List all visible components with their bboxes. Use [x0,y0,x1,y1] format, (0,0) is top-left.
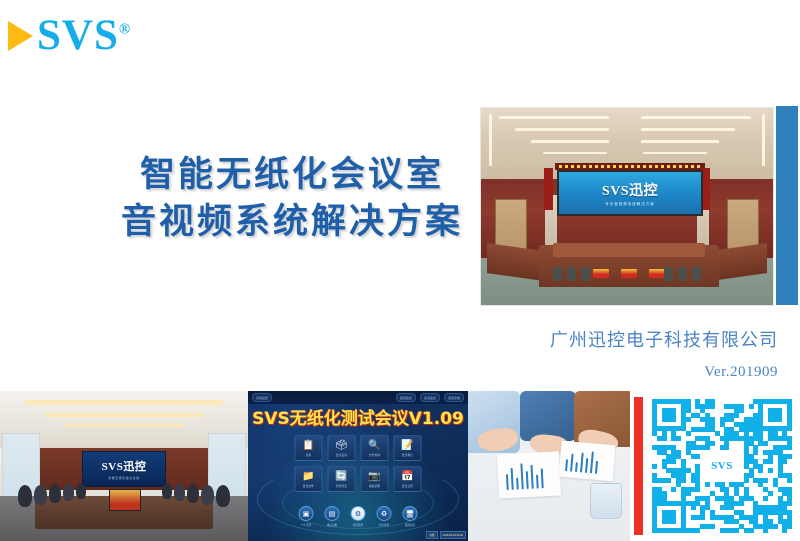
tile2-grid-item-sync[interactable]: 🔄 同步浏览 [328,466,356,492]
tile1-attendee [18,485,32,507]
service-icon: ⚙ [351,506,366,521]
play-triangle-icon [8,21,33,51]
hero-led-screen: SVS迅控 专业音视频系统解决方案 [557,170,703,216]
tile1-monitor [109,489,141,512]
tile2-dock-label: 会务服务 [353,523,363,527]
tile2-topbar-button-exit[interactable]: 退出系统 [444,393,464,402]
whiteboard-icon: ▤ [325,506,340,521]
tile2-statusbar: 在线 2019-09-18 09:30 [426,531,466,539]
page-title-line-2: 音视频系统解决方案 [92,199,492,246]
tile1-attendee [162,483,172,499]
tile1-led-screen: SVS迅控 智能无纸化会议系统 [82,451,166,487]
document-version: Ver.201909 [550,364,778,381]
tile4-accent-bar [634,397,643,535]
hero-chair [692,267,701,281]
tile2-topbar-right-group: 签到会议 表决会议 退出系统 [396,393,464,402]
display-icon: 🖥 [403,506,418,521]
tile2-dock-label: 个人空间 [301,523,311,527]
tile2-grid-item-note[interactable]: 📝 会议笔记 [394,435,422,461]
tile2-grid-label: 会议表决 [336,453,347,457]
registered-trademark-icon: ® [119,22,131,38]
hero-side-banner-left [544,168,553,210]
qr-center-logo: SVS [701,451,743,481]
tile1-screen-subtitle: 智能无纸化会议系统 [108,476,140,480]
tile1-attendee [187,484,199,503]
tile2-grid-item-vote[interactable]: 🗳 会议表决 [328,435,356,461]
hero-conference-room-image: SVS迅控 专业音视频系统解决方案 [480,107,774,306]
vote-icon: 🗳 [335,440,348,451]
tile2-grid-item-search[interactable]: 🔍 文件查询 [361,435,389,461]
hero-desk-flag-3 [649,269,665,278]
tile2-grid-label: 视频录像 [369,484,380,488]
company-info: 广州迅控电子科技有限公司 Ver.201909 [550,328,778,381]
refresh-icon: 🔄 [335,471,347,482]
agenda-icon: 📋 [302,440,314,451]
page-title-line-1: 智能无纸化会议室 [92,152,492,199]
tile1-attendee [76,483,86,499]
tile3-document-left [497,451,561,498]
strip-tile-software-ui: 系统设置 签到会议 表决会议 退出系统 SVS无纸化测试会议V1.09 📋 议程… [248,391,468,541]
qr-center-label: SVS [711,460,733,472]
tile2-grid-label: 会议笔记 [402,453,413,457]
tile2-grid-label: 同步浏览 [336,484,347,488]
tile3-water-glass [590,483,622,519]
brand-logo-text: SVS® [37,14,131,58]
tile1-attendee [174,484,185,501]
share-icon: ♻ [377,506,392,521]
tile1-attendee [34,485,47,505]
tile2-grid-item-agenda[interactable]: 📋 议程 [295,435,323,461]
brand-logo: SVS® [8,14,131,58]
hero-chair [678,267,687,281]
tile2-topbar-button-settings[interactable]: 系统设置 [252,393,272,402]
tile2-dock-item-whiteboard[interactable]: ▤ 电子白板 [325,506,340,527]
tile2-topbar-left-group: 系统设置 [252,393,272,402]
tile2-dock-item-service[interactable]: ⚙ 会务服务 [351,506,366,527]
strip-tile-team-photo [468,391,630,541]
tile2-grid-label: 会议日程 [402,484,413,488]
strip-tile-qr-code: SVS [630,391,800,541]
strip-tile-conference-room: SVS迅控 智能无纸化会议系统 [0,391,248,541]
brand-logo-word: SVS [37,12,119,59]
qr-code[interactable]: SVS [652,399,792,533]
tile3-person-shirt-mid [520,391,576,441]
hero-chair [664,267,673,281]
tile1-attendee [49,484,61,503]
tile2-dock-label: 电子白板 [327,523,337,527]
tile2-topbar-button-vote[interactable]: 表决会议 [420,393,440,402]
tile2-grid-item-schedule[interactable]: 📅 会议日程 [394,466,422,492]
hero-accent-bar [776,106,798,305]
tile3-document-right [559,441,616,482]
bottom-image-strip: SVS迅控 智能无纸化会议系统 系统设置 [0,391,800,541]
tile1-attendee [216,485,230,507]
calendar-icon: 📅 [401,471,413,482]
company-name: 广州迅控电子科技有限公司 [550,328,778,354]
hero-desk-flag-2 [621,269,637,278]
personal-space-icon: ▣ [299,506,314,521]
tile2-grid-label: 议程 [306,453,312,457]
tile2-grid-label: 文件查询 [369,453,380,457]
tile1-attendee [63,484,74,501]
tile2-dock-label: 投屏显示 [405,523,415,527]
tile2-topbar: 系统设置 签到会议 表决会议 退出系统 [248,391,468,404]
status-timestamp: 2019-09-18 09:30 [440,531,466,539]
note-icon: 📝 [401,440,413,451]
hero-chair [553,267,562,281]
tile2-feature-grid: 📋 议程 🗳 会议表决 🔍 文件查询 📝 会议笔记 📁 会议文件 [295,435,422,492]
search-icon: 🔍 [368,440,380,451]
hero-desk-flag-1 [593,269,609,278]
tile1-attendee [201,485,214,505]
hero-screen-banner [555,163,705,170]
hero-screen-subtitle: 专业音视频系统解决方案 [605,202,655,207]
tile2-topbar-button-signin[interactable]: 签到会议 [396,393,416,402]
tile2-grid-item-video[interactable]: 📷 视频录像 [361,466,389,492]
tile2-grid-item-files[interactable]: 📁 会议文件 [295,466,323,492]
tile2-dock: ▣ 个人空间 ▤ 电子白板 ⚙ 会务服务 ♻ 共享文件 🖥 投屏显示 [299,506,418,527]
hero-chair [567,267,576,281]
status-badge: 在线 [426,531,437,539]
hero-screen-logo: SVS迅控 [602,180,658,200]
tile1-screen-logo: SVS迅控 [102,458,147,474]
tile2-dock-item-share[interactable]: ♻ 共享文件 [377,506,392,527]
folder-icon: 📁 [302,471,314,482]
tile2-app-title: SVS无纸化测试会议V1.09 [248,404,468,429]
page-title: 智能无纸化会议室 音视频系统解决方案 [92,152,492,246]
hero-chair [581,267,590,281]
tile2-grid-label: 会议文件 [303,484,314,488]
tile2-dock-label: 共享文件 [379,523,389,527]
slide-root: SVS® 智能无纸化会议室 音视频系统解决方案 SVS迅控 [0,0,800,541]
camera-icon: 📷 [368,471,380,482]
tile2-dock-item-personal[interactable]: ▣ 个人空间 [299,506,314,527]
tile2-dock-item-display[interactable]: 🖥 投屏显示 [403,506,418,527]
